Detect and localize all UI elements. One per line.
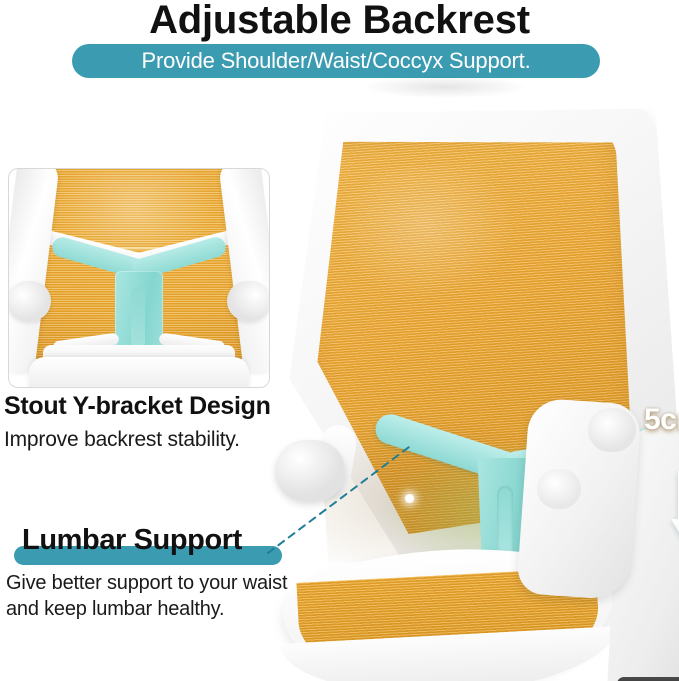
feature-heading-stout-y-bracket: Stout Y-bracket Design: [4, 392, 271, 421]
product-feature-image: Adjustable Backrest Provide Shoulder/Wai…: [0, 0, 679, 681]
subtitle-pill: Provide Shoulder/Waist/Coccyx Support.: [72, 44, 600, 78]
feature-body-stout-y-bracket: Improve backrest stability.: [4, 428, 240, 452]
pivot-cap-lower: [537, 469, 581, 509]
closeup-image: [9, 169, 269, 387]
feature-heading-lumbar-support-group: Lumbar Support: [14, 524, 286, 564]
feature-heading-lumbar-support: Lumbar Support: [22, 524, 242, 557]
adjust-range-label: 5cm/2inch: [644, 403, 679, 437]
arrow-down-icon: [671, 471, 679, 541]
gas-cylinder-collar: [617, 677, 679, 681]
closeup-knob-left: [9, 281, 51, 321]
adjust-range-arrows: [675, 457, 679, 545]
closeup-bracket-groove: [131, 287, 145, 349]
connector-endpoint-dot: [405, 494, 414, 503]
subtitle-pill-label: Provide Shoulder/Waist/Coccyx Support.: [142, 49, 531, 73]
chair-photo: 5cm/2inch: [255, 95, 679, 681]
page-title: Adjustable Backrest: [0, 0, 679, 42]
pivot-cap-upper: [588, 408, 636, 452]
y-bracket-closeup-panel: [8, 168, 270, 388]
backrest-highlight: [337, 158, 558, 342]
tension-knob: [275, 440, 345, 502]
closeup-seat-base: [29, 357, 249, 387]
